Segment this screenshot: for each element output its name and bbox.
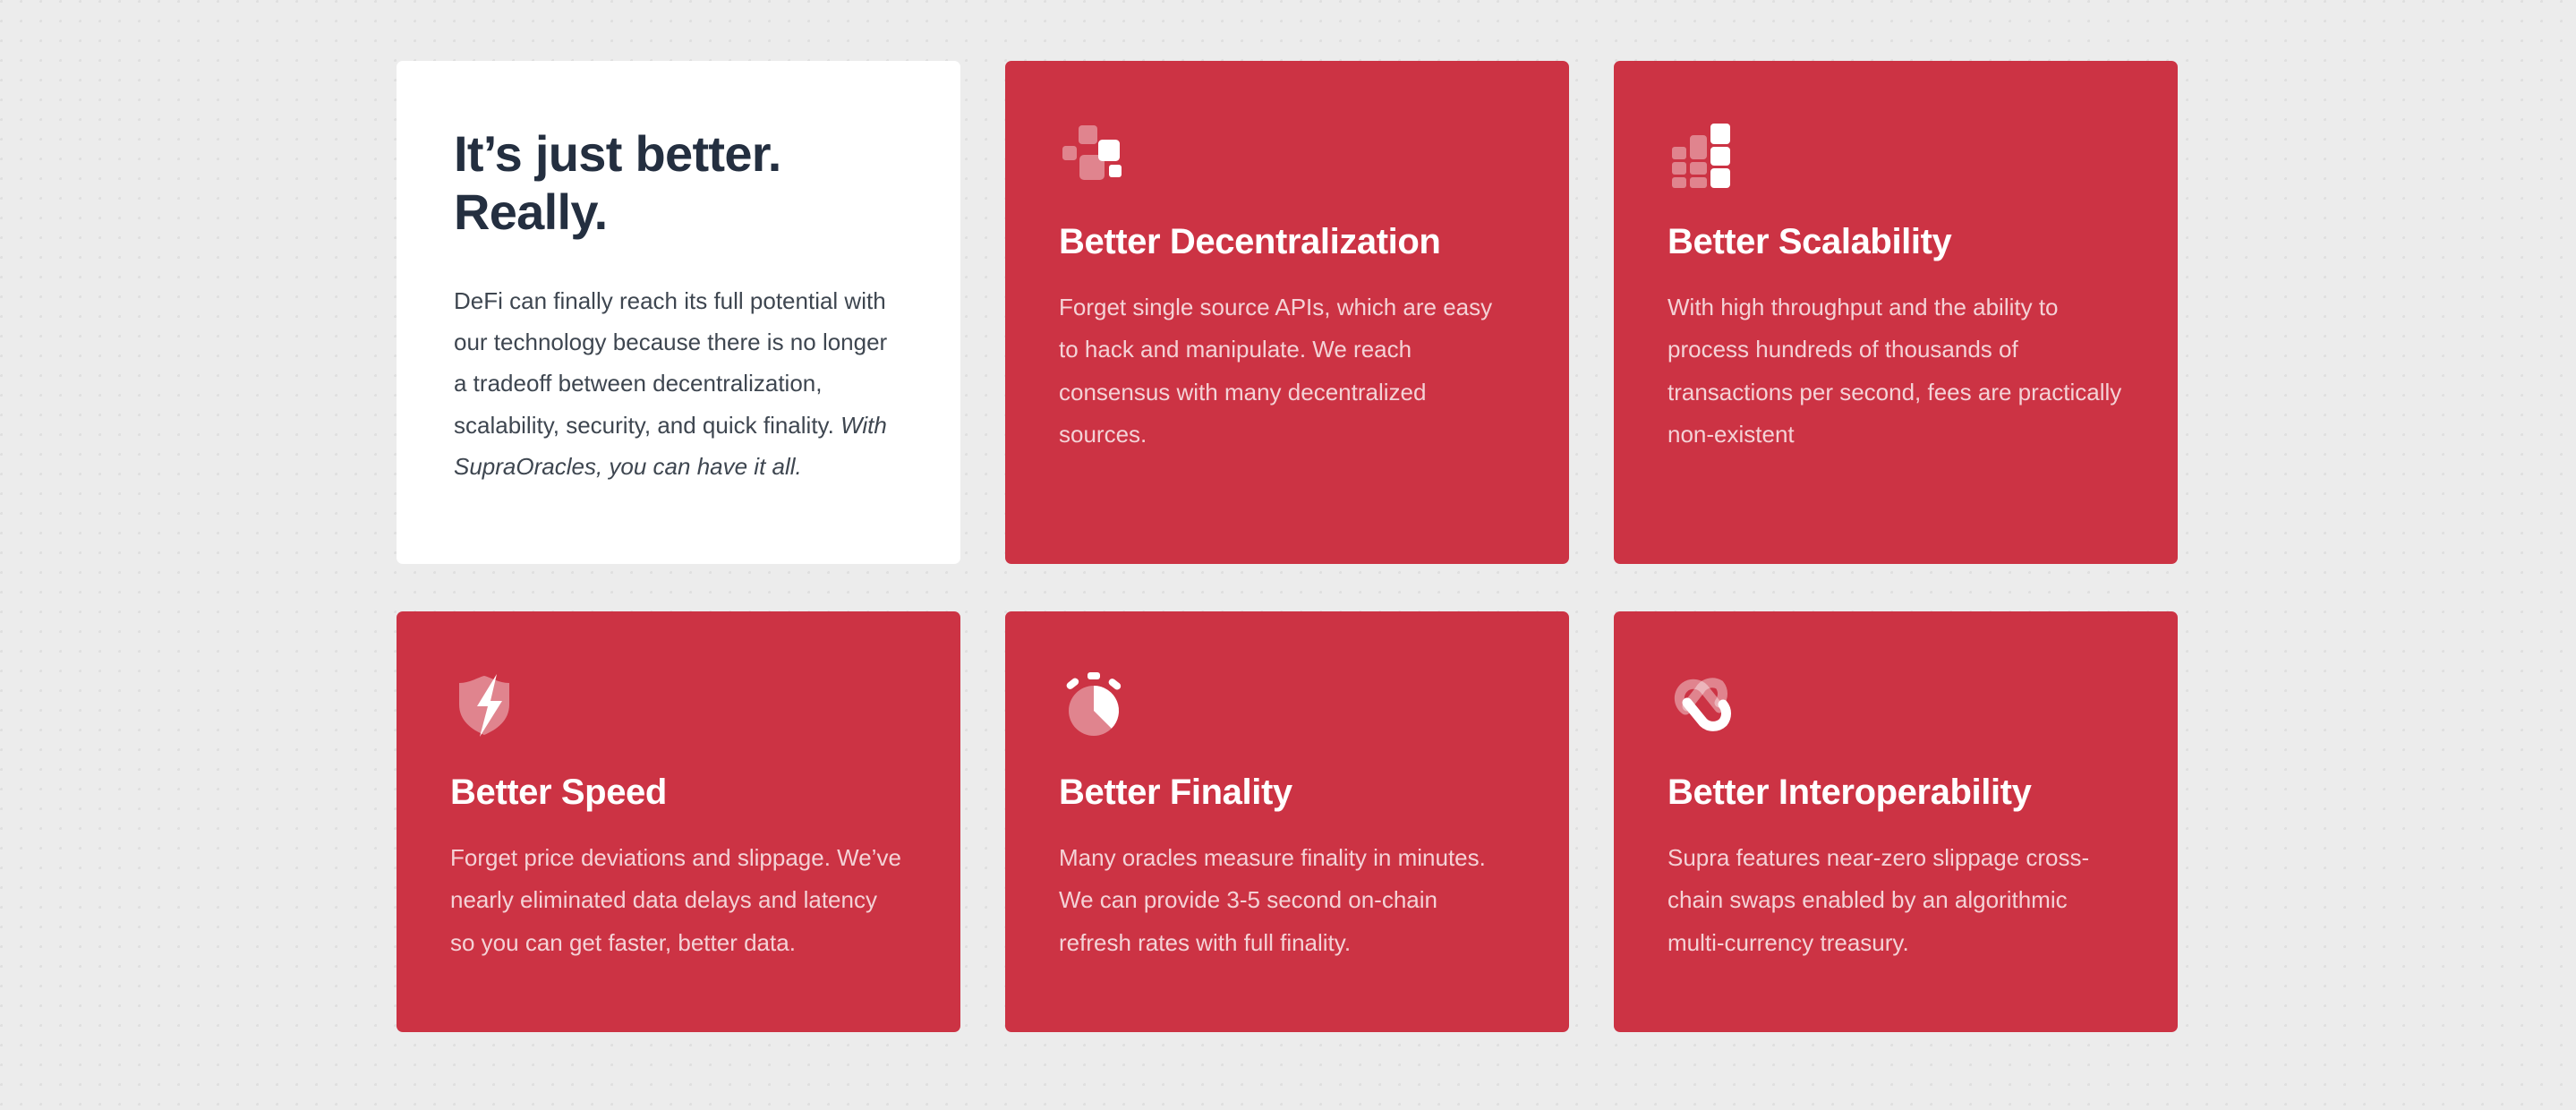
feature-body: With high throughput and the ability to …: [1668, 286, 2124, 456]
intro-body-plain: DeFi can finally reach its full potentia…: [454, 287, 887, 439]
feature-body: Supra features near-zero slippage cross-…: [1668, 837, 2124, 964]
squares-cluster-icon: [1059, 120, 1129, 190]
feature-card-scalability: Better Scalability With high throughput …: [1614, 61, 2178, 564]
feature-title: Better Interoperability: [1668, 771, 2124, 814]
chain-links-icon: [1668, 670, 1737, 740]
bar-blocks-icon: [1668, 120, 1737, 190]
feature-body: Forget price deviations and slippage. We…: [450, 837, 907, 964]
feature-title: Better Speed: [450, 771, 907, 814]
cards-grid: It’s just better. Really. DeFi can final…: [397, 61, 2178, 1032]
stopwatch-icon: [1059, 670, 1129, 740]
feature-title: Better Decentralization: [1059, 220, 1515, 263]
feature-body: Forget single source APIs, which are eas…: [1059, 286, 1515, 456]
intro-title: It’s just better. Really.: [454, 125, 903, 242]
feature-card-decentralization: Better Decentralization Forget single so…: [1005, 61, 1569, 564]
intro-card: It’s just better. Really. DeFi can final…: [397, 61, 960, 564]
feature-title: Better Finality: [1059, 771, 1515, 814]
feature-card-finality: Better Finality Many oracles measure fin…: [1005, 611, 1569, 1032]
intro-body: DeFi can finally reach its full potentia…: [454, 280, 903, 487]
shield-bolt-icon: [450, 670, 520, 740]
feature-card-interoperability: Better Interoperability Supra features n…: [1614, 611, 2178, 1032]
feature-body: Many oracles measure finality in minutes…: [1059, 837, 1515, 964]
feature-card-speed: Better Speed Forget price deviations and…: [397, 611, 960, 1032]
feature-title: Better Scalability: [1668, 220, 2124, 263]
feature-grid-page: It’s just better. Really. DeFi can final…: [0, 0, 2576, 1110]
